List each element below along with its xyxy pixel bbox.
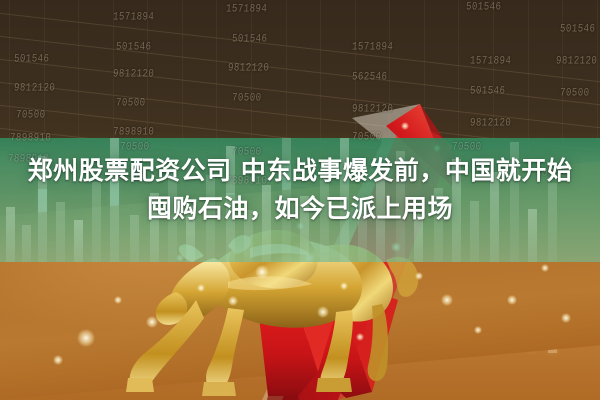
- band-bar: [226, 146, 235, 262]
- article-cover-image: 5015469812120705007898910157189450154698…: [0, 0, 600, 400]
- band-bar: [92, 182, 101, 262]
- band-bar: [414, 214, 423, 262]
- band-bar: [56, 202, 65, 262]
- band-bar: [490, 172, 499, 262]
- band-bar: [22, 225, 31, 262]
- band-bar: [510, 142, 519, 262]
- band-bar: [528, 209, 537, 262]
- band-bar: [244, 210, 253, 262]
- band-bar: [358, 204, 367, 262]
- band-bar: [74, 220, 83, 262]
- band-bar: [186, 206, 195, 262]
- band-bar: [452, 159, 461, 262]
- band-bar: [340, 138, 349, 262]
- band-bar: [130, 215, 139, 262]
- band-bar: [548, 183, 557, 262]
- band-bar: [434, 188, 443, 262]
- band-bar: [168, 164, 177, 262]
- band-bar: [38, 156, 47, 262]
- band-bar: [262, 185, 271, 262]
- band-bar: [320, 169, 329, 262]
- band-bar: [300, 196, 309, 262]
- band-bar: [110, 138, 119, 262]
- band-bar: [470, 201, 479, 262]
- band-bar: [376, 178, 385, 262]
- band-bar: [6, 207, 15, 262]
- band-bar: [150, 193, 159, 262]
- green-band-bars: [0, 138, 600, 262]
- band-bar: [282, 138, 291, 262]
- band-bar: [396, 151, 405, 262]
- band-bar: [206, 175, 215, 262]
